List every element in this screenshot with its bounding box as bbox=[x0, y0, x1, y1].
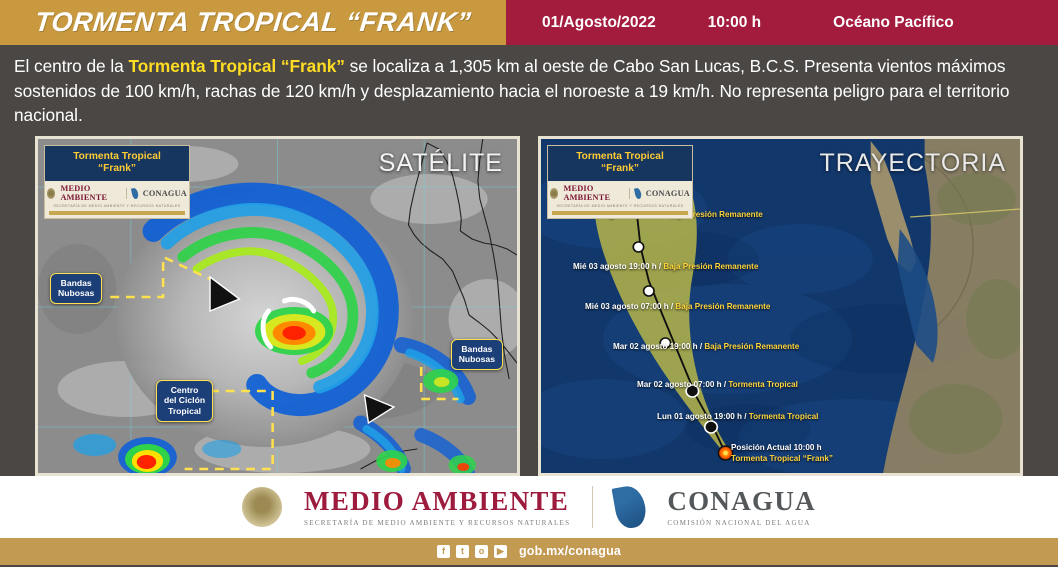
youtube-icon[interactable]: ▶ bbox=[494, 545, 507, 558]
current-position-line1: Posición Actual 10:00 h bbox=[731, 442, 833, 454]
satellite-caption: SATÉLITE bbox=[379, 149, 503, 178]
footer-logo-divider bbox=[592, 486, 593, 528]
annotation-centro-line2: del Ciclón bbox=[164, 395, 205, 406]
footer-conagua-title: CONAGUA bbox=[667, 486, 816, 517]
water-drop-icon bbox=[612, 483, 649, 530]
trajectory-logo-box: Tormenta Tropical “Frank” MEDIO AMBIENTE… bbox=[547, 145, 693, 220]
track-label-current-position: Posición Actual 10:00 h Tormenta Tropica… bbox=[731, 442, 833, 465]
annotation-centro-line1: Centro bbox=[164, 385, 205, 396]
trajectory-logo-medio-ambiente: MEDIO AMBIENTE bbox=[563, 184, 623, 202]
footer-conagua: CONAGUA COMISIÓN NACIONAL DEL AGUA bbox=[667, 486, 816, 527]
track-label-mie-03-19: Mié 03 agosto 19:00 h / Baja Presión Rem… bbox=[573, 262, 758, 271]
eagle-seal-icon bbox=[550, 188, 558, 199]
track-label-mar-02-19-time: Mar 02 agosto 19:00 h / bbox=[613, 342, 704, 351]
bulletin-date: 01/Agosto/2022 bbox=[542, 14, 656, 32]
track-label-lun-01-19: Lun 01 agosto 19:00 h / Tormenta Tropica… bbox=[657, 412, 818, 421]
satellite-logo-storm-line1: Tormenta Tropical bbox=[47, 151, 187, 164]
satellite-logo-storm-line2: “Frank” bbox=[47, 163, 187, 176]
satellite-logo-agencies: MEDIO AMBIENTE CONAGUA bbox=[45, 181, 189, 203]
trajectory-logo-subtitle: SECRETARÍA DE MEDIO AMBIENTE Y RECURSOS … bbox=[548, 204, 692, 208]
logo-gold-strip bbox=[49, 211, 185, 215]
footer-conagua-subtitle: COMISIÓN NACIONAL DEL AGUA bbox=[667, 519, 816, 527]
annotation-bandas-right-line2: Nubosas bbox=[459, 354, 495, 365]
track-label-lun-01-19-time: Lun 01 agosto 19:00 h / bbox=[657, 412, 749, 421]
track-label-mar-02-07-time: Mar 02 agosto 07:00 h / bbox=[637, 380, 728, 389]
satellite-logo-box: Tormenta Tropical “Frank” MEDIO AMBIENTE… bbox=[44, 145, 190, 220]
footer-url[interactable]: gob.mx/conagua bbox=[519, 544, 621, 558]
page-title: TORMENTA TROPICAL “FRANK” bbox=[33, 7, 472, 38]
instagram-icon[interactable]: o bbox=[475, 545, 488, 558]
satellite-logo-medio-ambiente: MEDIO AMBIENTE bbox=[60, 184, 120, 202]
track-label-mie-03-07-category: Baja Presión Remanente bbox=[675, 302, 770, 311]
header-meta-band: 01/Agosto/2022 10:00 h Océano Pacífico bbox=[506, 0, 1058, 45]
ocean-basin: Océano Pacífico bbox=[833, 14, 954, 32]
trajectory-logo-storm-line1: Tormenta Tropical bbox=[550, 151, 690, 164]
trajectory-logo-agencies: MEDIO AMBIENTE CONAGUA bbox=[548, 181, 692, 203]
annotation-bandas-nubosas-left: Bandas Nubosas bbox=[50, 273, 102, 304]
header-title-band: TORMENTA TROPICAL “FRANK” bbox=[0, 0, 506, 45]
track-label-mar-02-07-category: Tormenta Tropical bbox=[728, 380, 798, 389]
annotation-centro-line3: Tropical bbox=[164, 406, 205, 417]
bulletin-text-part1: El centro de la bbox=[14, 56, 128, 76]
satellite-logo-conagua: CONAGUA bbox=[143, 189, 187, 198]
track-label-mie-03-07: Mié 03 agosto 07:00 h / Baja Presión Rem… bbox=[585, 302, 770, 311]
eagle-seal-icon bbox=[242, 487, 282, 527]
bulletin-text: El centro de la Tormenta Tropical “Frank… bbox=[0, 45, 1058, 136]
track-label-mie-03-19-category: Baja Presión Remanente bbox=[663, 262, 758, 271]
trajectory-caption: TRAYECTORIA bbox=[820, 149, 1007, 178]
annotation-bandas-right-line1: Bandas bbox=[459, 344, 495, 355]
track-label-mar-02-07: Mar 02 agosto 07:00 h / Tormenta Tropica… bbox=[637, 380, 798, 389]
track-label-mie-03-19-time: Mié 03 agosto 19:00 h / bbox=[573, 262, 663, 271]
annotation-bandas-left-line1: Bandas bbox=[58, 278, 94, 289]
facebook-icon[interactable]: f bbox=[437, 545, 450, 558]
eagle-seal-icon bbox=[47, 188, 55, 199]
satellite-logo-storm: Tormenta Tropical “Frank” bbox=[45, 146, 189, 182]
annotation-bandas-nubosas-right: Bandas Nubosas bbox=[451, 339, 503, 370]
bulletin-time: 10:00 h bbox=[708, 14, 761, 32]
trajectory-logo-conagua: CONAGUA bbox=[646, 189, 690, 198]
page-header: TORMENTA TROPICAL “FRANK” 01/Agosto/2022… bbox=[0, 0, 1058, 45]
satellite-logo-subtitle: SECRETARÍA DE MEDIO AMBIENTE Y RECURSOS … bbox=[45, 204, 189, 208]
trajectory-logo-storm: Tormenta Tropical “Frank” bbox=[548, 146, 692, 182]
annotation-centro-ciclon: Centro del Ciclón Tropical bbox=[156, 380, 213, 422]
twitter-icon[interactable]: t bbox=[456, 545, 469, 558]
track-label-lun-01-19-category: Tormenta Tropical bbox=[749, 412, 819, 421]
panels-row: SATÉLITE Tormenta Tropical “Frank” MEDIO… bbox=[0, 136, 1058, 476]
water-drop-icon bbox=[130, 187, 138, 199]
track-label-mar-02-19: Mar 02 agosto 19:00 h / Baja Presión Rem… bbox=[613, 342, 799, 351]
track-label-mar-02-19-category: Baja Presión Remanente bbox=[704, 342, 799, 351]
footer-social-bar: f t o ▶ gob.mx/conagua bbox=[0, 538, 1058, 565]
track-label-mie-03-07-time: Mié 03 agosto 07:00 h / bbox=[585, 302, 675, 311]
bulletin-storm-name: Tormenta Tropical “Frank” bbox=[128, 56, 344, 76]
logo-gold-strip bbox=[552, 211, 688, 215]
footer-logos: MEDIO AMBIENTE SECRETARÍA DE MEDIO AMBIE… bbox=[0, 476, 1058, 538]
logo-divider bbox=[126, 188, 127, 199]
trajectory-panel[interactable]: TRAYECTORIA Tormenta Tropical “Frank” ME… bbox=[538, 136, 1023, 476]
current-position-line2: Tormenta Tropical “Frank” bbox=[731, 453, 833, 465]
footer-medio-ambiente: MEDIO AMBIENTE SECRETARÍA DE MEDIO AMBIE… bbox=[304, 486, 570, 527]
trajectory-logo-storm-line2: “Frank” bbox=[550, 163, 690, 176]
water-drop-icon bbox=[633, 187, 641, 199]
logo-divider bbox=[629, 188, 630, 199]
footer-medio-ambiente-subtitle: SECRETARÍA DE MEDIO AMBIENTE Y RECURSOS … bbox=[304, 519, 570, 527]
footer-medio-ambiente-title: MEDIO AMBIENTE bbox=[304, 486, 570, 517]
satellite-panel[interactable]: SATÉLITE Tormenta Tropical “Frank” MEDIO… bbox=[35, 136, 520, 476]
annotation-bandas-left-line2: Nubosas bbox=[58, 288, 94, 299]
